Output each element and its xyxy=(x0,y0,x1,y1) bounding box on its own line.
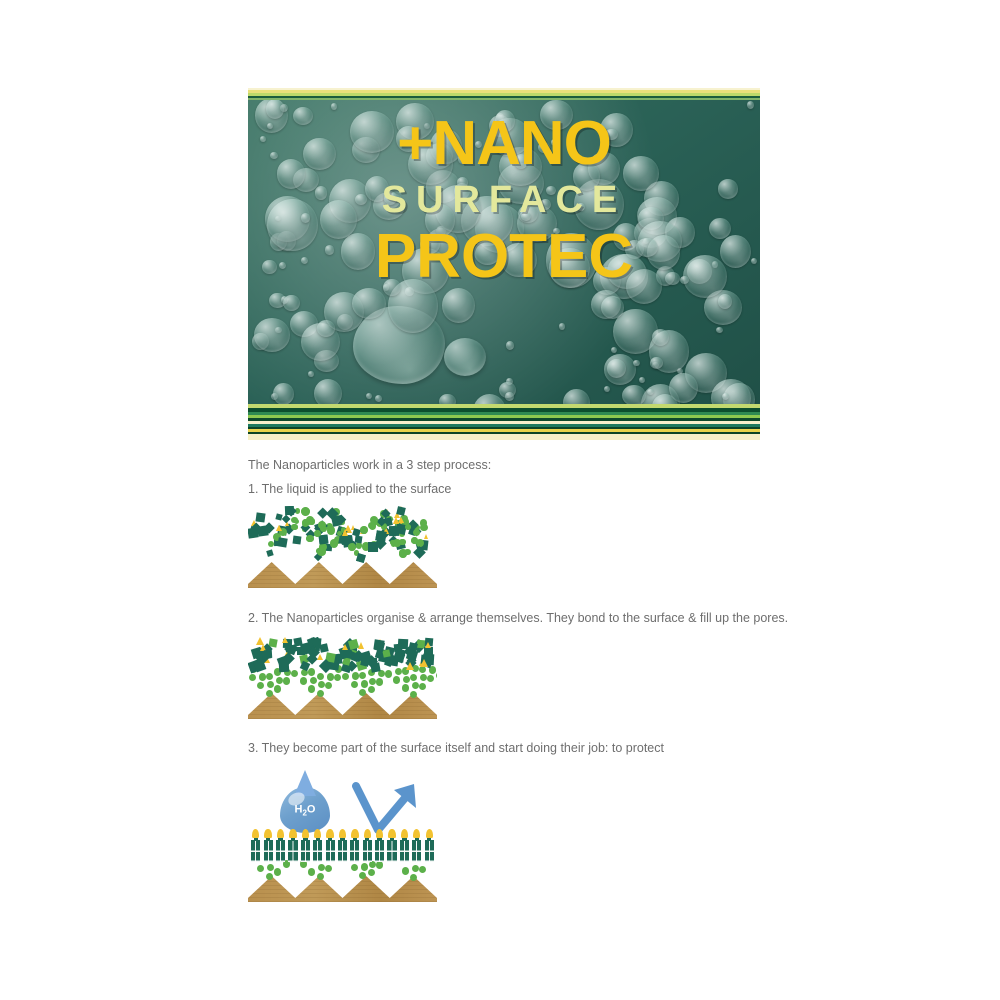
nanoparticle-circle xyxy=(436,672,438,679)
nanoparticle-circle xyxy=(361,863,368,870)
nanoparticle-circle xyxy=(399,539,405,545)
step3-diagram-protection: H2O xyxy=(248,766,437,902)
nano-column-body xyxy=(375,840,384,862)
nano-column xyxy=(264,840,273,862)
nanoparticle-circle xyxy=(419,866,426,873)
nano-column xyxy=(326,840,335,862)
nanoparticle-circle xyxy=(413,529,420,536)
nanoparticle-circle xyxy=(308,668,315,675)
nanoparticle-circle xyxy=(402,684,409,691)
nanoparticle-circle xyxy=(385,670,392,677)
nanoparticle-square xyxy=(394,643,403,652)
nanoparticle-circle xyxy=(410,674,417,681)
water-droplet xyxy=(283,295,299,311)
nano-column-body xyxy=(412,840,421,862)
nanoparticle-circle xyxy=(327,526,335,534)
nanoparticle-circle xyxy=(249,674,256,681)
nanoparticle-triangle xyxy=(282,637,288,643)
water-droplet xyxy=(607,359,626,378)
nano-column xyxy=(276,840,285,862)
banner-top-stripes xyxy=(248,88,760,100)
nano-column xyxy=(400,840,409,862)
nano-surface-protec-banner: +NANO SURFACE PROTEC xyxy=(248,88,760,440)
water-droplet xyxy=(718,294,732,309)
nanoparticle-circle xyxy=(376,861,383,868)
nanoparticle-circle xyxy=(308,685,315,692)
nano-column xyxy=(375,840,384,862)
nanoparticle-square xyxy=(293,535,301,543)
bounce-arrow-icon xyxy=(352,780,422,840)
nanoparticle-circle xyxy=(310,677,317,684)
water-droplet xyxy=(331,103,337,109)
wood-surface xyxy=(248,856,437,902)
nanoparticle-square xyxy=(294,637,303,646)
nano-column-cap xyxy=(401,829,408,838)
nanoparticle-circle xyxy=(294,519,299,524)
nanoparticle-circle xyxy=(268,541,274,547)
nanoparticle-triangle xyxy=(406,662,414,670)
nanoparticle-circle xyxy=(314,530,321,537)
nano-column-cap xyxy=(388,829,395,838)
nanoparticle-triangle xyxy=(398,517,404,523)
nanoparticle-circle xyxy=(257,682,264,689)
nano-column-body xyxy=(264,840,273,862)
nanoparticle-circle xyxy=(359,672,366,679)
nanoparticle-circle xyxy=(317,690,324,697)
water-droplet xyxy=(601,296,624,319)
medium-water-droplet xyxy=(444,338,486,376)
nanoparticle-triangle xyxy=(358,642,364,649)
nanoparticle-circle xyxy=(351,864,358,871)
nano-column-body xyxy=(338,840,347,862)
nano-column-cap xyxy=(364,829,371,838)
water-droplet xyxy=(352,288,386,319)
banner-title-surface: SURFACE xyxy=(248,175,760,226)
water-droplet xyxy=(647,389,654,396)
nano-column-cap xyxy=(376,829,383,838)
nanoparticle-square xyxy=(370,662,381,673)
nanoparticle-circle xyxy=(266,690,273,697)
nanoparticle-circle xyxy=(412,865,419,872)
nanoparticle-triangle xyxy=(424,534,428,539)
nanoparticle-circle xyxy=(376,678,383,685)
nanoparticle-circle xyxy=(274,685,281,692)
nano-column xyxy=(350,840,359,862)
nanoparticle-circle xyxy=(266,673,273,680)
nanoparticle-circle xyxy=(325,865,332,872)
nanoparticle-triangle xyxy=(425,642,431,648)
nanoparticle-circle xyxy=(368,686,375,693)
nanoparticle-square xyxy=(277,537,288,548)
nanoparticle-triangle xyxy=(420,659,428,667)
nanoparticle-circle xyxy=(276,677,283,684)
nanoparticle-square xyxy=(394,652,404,662)
water-droplet xyxy=(611,347,617,353)
water-droplet xyxy=(747,101,754,109)
step2-diagram-particles-organise xyxy=(248,637,437,719)
nanoparticle-diamond xyxy=(318,507,329,518)
water-droplet xyxy=(639,377,645,383)
nanoparticle-circle xyxy=(342,673,349,680)
page-root: +NANO SURFACE PROTEC The Nanoparticles w… xyxy=(0,0,1000,1000)
nano-column xyxy=(338,840,347,862)
nano-column xyxy=(412,840,421,862)
step-3-label: 3. They become part of the surface itsel… xyxy=(248,741,664,755)
nano-column xyxy=(301,840,310,862)
nanoparticle-circle xyxy=(317,873,324,880)
nanoparticle-circle xyxy=(300,677,307,684)
nanoparticle-circle xyxy=(368,869,375,876)
nanoparticle-square xyxy=(354,536,362,544)
nanoparticle-circle xyxy=(327,673,334,680)
nano-column xyxy=(387,840,396,862)
nanoparticle-circle xyxy=(325,682,332,689)
nano-column-body xyxy=(400,840,409,862)
nanoparticle-circle xyxy=(360,526,368,534)
water-droplet xyxy=(254,318,290,351)
water-droplet xyxy=(308,371,314,377)
nanoparticle-triangle xyxy=(342,644,348,650)
nano-column-body xyxy=(363,840,372,862)
nano-column-body xyxy=(288,840,297,862)
water-droplet xyxy=(650,357,663,369)
nano-column-cap xyxy=(264,829,271,838)
banner-title-nano: +NANO xyxy=(248,114,760,175)
step-1-label: 1. The liquid is applied to the surface xyxy=(248,482,451,496)
nano-column-cap xyxy=(426,829,433,838)
nano-column xyxy=(363,840,372,862)
nanoparticle-circle xyxy=(334,674,341,681)
nanoparticle-circle xyxy=(301,507,310,516)
nano-column-cap xyxy=(252,829,259,838)
water-droplet xyxy=(604,386,611,392)
nanoparticle-circle xyxy=(427,675,434,682)
nano-column-body xyxy=(251,840,260,862)
nanoparticle-circle xyxy=(419,683,426,690)
nanoparticle-circle xyxy=(393,676,400,683)
nanoparticle-circle xyxy=(420,519,427,526)
nano-column-body xyxy=(301,840,310,862)
nanoparticle-circle xyxy=(410,691,417,698)
nanoparticle-circle xyxy=(395,668,402,675)
nanoparticle-square xyxy=(266,549,274,557)
nanoparticle-circle xyxy=(410,874,417,881)
nanoparticle-circle xyxy=(351,681,358,688)
banner-stripe xyxy=(248,434,760,440)
nanoparticle-circle xyxy=(257,865,264,872)
nano-column-cap xyxy=(351,829,358,838)
nanoparticle-circle xyxy=(309,518,316,525)
banner-title-block: +NANO SURFACE PROTEC xyxy=(248,114,760,288)
banner-bottom-stripes xyxy=(248,404,760,440)
nanoparticle-square xyxy=(255,512,266,523)
water-droplet xyxy=(506,341,515,350)
banner-stripe xyxy=(248,98,760,100)
water-droplet xyxy=(559,323,565,329)
nano-column xyxy=(313,840,322,862)
nano-column-body xyxy=(425,840,434,862)
step1-diagram-liquid-applied xyxy=(248,506,437,588)
nanoparticle-circle xyxy=(259,673,266,680)
nano-column-body xyxy=(313,840,322,862)
nanoparticle-square xyxy=(348,638,359,649)
h2o-label: H2O xyxy=(280,803,330,817)
water-droplet xyxy=(505,392,513,401)
nanoparticle-circle xyxy=(317,673,324,680)
nano-column-body xyxy=(387,840,396,862)
step-2-label: 2. The Nanoparticles organise & arrange … xyxy=(248,611,788,625)
water-droplet xyxy=(317,320,336,337)
nano-column-body xyxy=(326,840,335,862)
nanoparticle-square xyxy=(264,649,273,658)
nanoparticle-circle xyxy=(402,867,409,874)
nano-column xyxy=(425,840,434,862)
water-droplet xyxy=(716,327,723,333)
nano-column-cap xyxy=(339,829,346,838)
nanoparticle-circle xyxy=(399,549,408,558)
nano-column xyxy=(288,840,297,862)
nanoparticle-circle xyxy=(330,539,339,548)
nanoparticle-square xyxy=(297,647,305,655)
nano-column-cap xyxy=(289,829,296,838)
nanoparticle-circle xyxy=(361,680,368,687)
banner-title-protec: PROTEC xyxy=(248,226,760,288)
intro-text: The Nanoparticles work in a 3 step proce… xyxy=(248,458,491,472)
water-droplet xyxy=(366,393,372,399)
water-droplet xyxy=(273,383,294,404)
nanoparticle-circle xyxy=(291,524,297,530)
nanoparticle-circle xyxy=(318,521,326,529)
nanoparticle-circle xyxy=(274,868,281,875)
nanoparticle-circle xyxy=(316,548,322,554)
nano-column xyxy=(251,840,260,862)
nanoparticle-square xyxy=(356,553,366,563)
nanoparticle-square xyxy=(375,530,386,541)
nanoparticle-circle xyxy=(405,524,411,530)
nanoparticle-circle xyxy=(291,670,298,677)
water-droplet xyxy=(375,395,382,402)
nanoparticle-triangle xyxy=(276,525,282,531)
nanoparticle-triangle xyxy=(345,525,351,531)
nano-column-cap xyxy=(326,829,333,838)
nano-column-cap xyxy=(314,829,321,838)
nano-column-cap xyxy=(277,829,284,838)
nanoparticle-circle xyxy=(266,873,273,880)
water-droplet-h2o: H2O xyxy=(280,787,330,833)
nanoparticle-circle xyxy=(412,682,419,689)
nanoparticle-circle xyxy=(283,677,290,684)
water-droplet xyxy=(652,329,669,345)
nano-column-body xyxy=(276,840,285,862)
nano-column-body xyxy=(350,840,359,862)
water-droplet xyxy=(633,360,640,367)
nanoparticle-square xyxy=(368,542,378,552)
nanoparticle-triangle xyxy=(393,517,399,524)
nano-column-cap xyxy=(302,829,309,838)
nanoparticle-circle xyxy=(306,535,313,542)
nanoparticle-circle xyxy=(308,868,315,875)
water-droplet xyxy=(442,288,475,323)
